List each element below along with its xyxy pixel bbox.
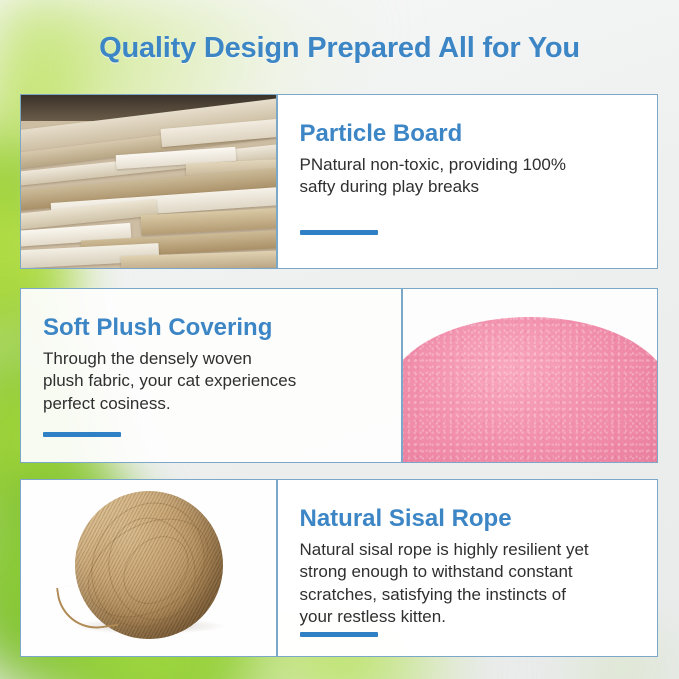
card-text-area: Soft Plush Covering Through the densely … [21, 289, 401, 462]
feature-card-soft-plush-covering: Soft Plush Covering Through the densely … [20, 288, 658, 463]
card-description: Natural sisal rope is highly resilient y… [300, 539, 636, 627]
card-description: Through the densely woven plush fabric, … [43, 348, 379, 414]
card-text-area: Particle Board PNatural non-toxic, provi… [278, 95, 658, 268]
accent-bar [300, 230, 378, 235]
accent-bar [43, 432, 121, 437]
feature-card-natural-sisal-rope: Natural Sisal Rope Natural sisal rope is… [20, 479, 658, 657]
card-description: PNatural non-toxic, providing 100% safty… [300, 154, 636, 198]
card-heading: Soft Plush Covering [43, 315, 379, 341]
accent-bar [300, 632, 378, 637]
card-text-area: Natural Sisal Rope Natural sisal rope is… [278, 480, 658, 656]
sisal-rope-ball-photo [21, 480, 276, 656]
feature-card-particle-board: Particle Board PNatural non-toxic, provi… [20, 94, 658, 269]
card-heading: Particle Board [300, 121, 636, 147]
card-heading: Natural Sisal Rope [300, 506, 636, 532]
pink-plush-fabric-photo [403, 289, 658, 462]
particle-board-photo [21, 95, 276, 268]
page-title: Quality Design Prepared All for You [0, 32, 679, 65]
